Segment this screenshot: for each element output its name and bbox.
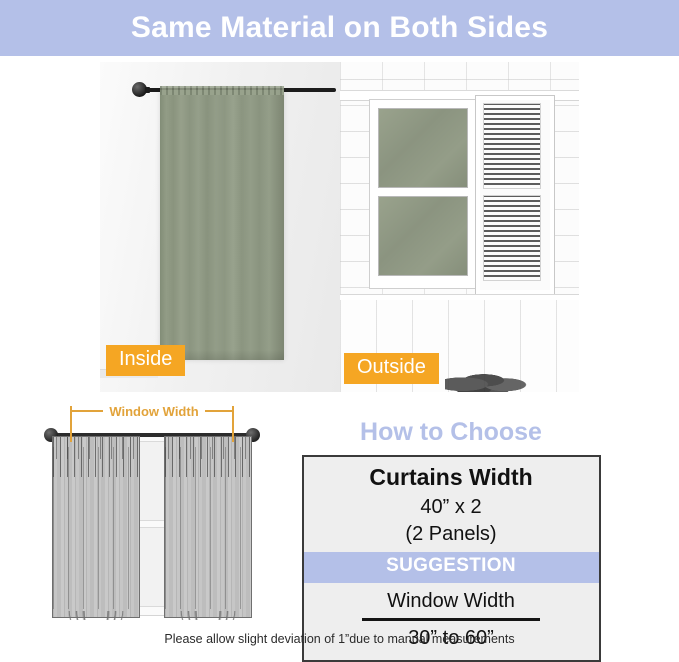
shutter-louvers-bottom (483, 195, 541, 281)
shrub-icon (445, 366, 531, 392)
photo-comparison-row: Inside Outside (100, 62, 579, 392)
how-to-choose-title: How to Choose (296, 418, 606, 447)
panel-gathers-fine (168, 437, 254, 459)
window-pane-bottom (378, 196, 468, 276)
panel-gathers-fine (56, 437, 142, 459)
table-row-suggestion-header: SUGGESTION (304, 552, 599, 583)
dimension-label-text: Window Width (103, 405, 204, 418)
panel-hem (164, 611, 252, 620)
table-row-window-width-label: Window Width (304, 583, 599, 618)
curtain-measurement-diagram: Window Width (28, 400, 280, 640)
page-title: Same Material on Both Sides (131, 13, 548, 43)
table-row-curtains-width-value: 40” x 2 (304, 493, 599, 520)
diagram-panel-right (164, 436, 252, 618)
table-row-panel-count: (2 Panels) (304, 520, 599, 552)
shutter-louvers-top (483, 103, 541, 189)
disclaimer-text: Please allow slight deviation of 1”due t… (0, 632, 679, 647)
panel-hem (52, 611, 140, 620)
table-row-curtains-width-heading: Curtains Width (304, 457, 599, 494)
dimension-tick-left (70, 406, 72, 442)
rod-finial-icon (132, 82, 147, 97)
how-to-choose-section: How to Choose Curtains Width 40” x 2 (2 … (296, 418, 606, 662)
badge-inside: Inside (106, 345, 185, 376)
window-shutter (476, 96, 554, 294)
photo-outside: Outside (340, 62, 579, 392)
dimension-label: Window Width (28, 400, 280, 422)
diagram-panel-left (52, 436, 140, 618)
header-banner: Same Material on Both Sides (0, 0, 679, 56)
size-table: Curtains Width 40” x 2 (2 Panels) SUGGES… (302, 455, 601, 662)
photo-inside: Inside (100, 62, 340, 392)
badge-outside: Outside (344, 353, 439, 384)
window-frame (370, 100, 482, 288)
dimension-tick-right (232, 406, 234, 442)
curtain-panel-photo (160, 90, 284, 360)
window-rail (375, 188, 477, 194)
window-pane-top (378, 108, 468, 188)
